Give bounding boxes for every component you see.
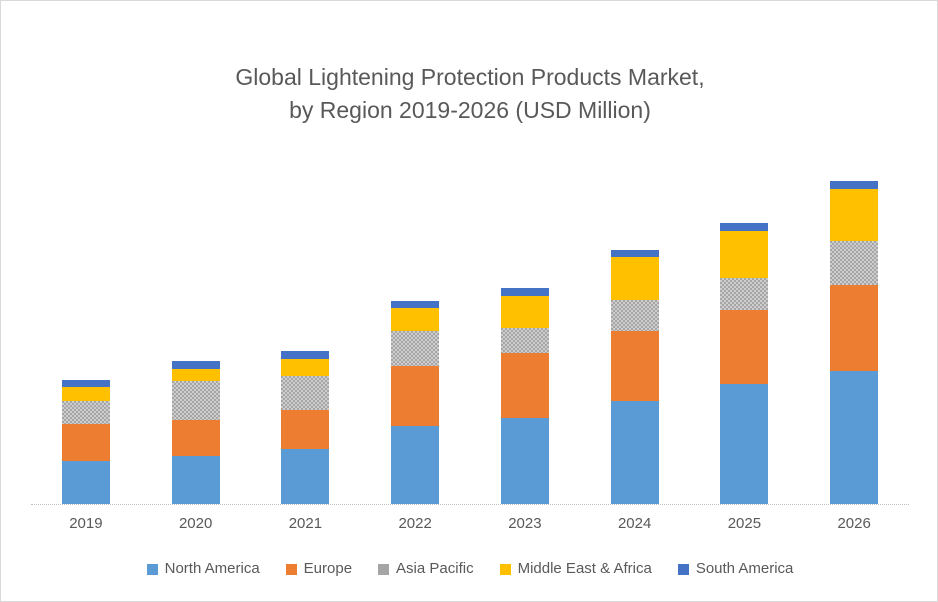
legend-swatch-icon-middle-east-africa	[500, 564, 511, 575]
legend-item-middle-east-africa[interactable]: Middle East & Africa	[500, 559, 652, 579]
bar-segment-europe-2019[interactable]	[62, 424, 110, 461]
chart-legend: North AmericaEuropeAsia PacificMiddle Ea…	[1, 559, 938, 579]
bar-segment-north-america-2025[interactable]	[720, 384, 768, 504]
bar-segment-europe-2021[interactable]	[281, 410, 329, 449]
bar-stack-2019[interactable]	[62, 380, 110, 504]
bar-segment-middle-east-africa-2025[interactable]	[720, 231, 768, 278]
chart-title-line-2: by Region 2019-2026 (USD Million)	[289, 97, 651, 123]
bar-segment-north-america-2023[interactable]	[501, 418, 549, 504]
chart-container: Global Lightening Protection Products Ma…	[0, 0, 938, 602]
bar-segment-north-america-2022[interactable]	[391, 426, 439, 504]
legend-swatch-icon-asia-pacific	[378, 564, 389, 575]
bar-segment-south-america-2020[interactable]	[172, 361, 220, 369]
legend-swatch-icon-north-america	[147, 564, 158, 575]
legend-label-asia-pacific: Asia Pacific	[396, 559, 474, 579]
bar-segment-south-america-2024[interactable]	[611, 250, 659, 257]
bar-segment-south-america-2019[interactable]	[62, 380, 110, 387]
chart-title-line-1: Global Lightening Protection Products Ma…	[235, 64, 704, 90]
bar-segment-north-america-2019[interactable]	[62, 461, 110, 504]
bar-segment-asia-pacific-2019[interactable]	[62, 401, 110, 424]
bar-segment-south-america-2025[interactable]	[720, 223, 768, 231]
bar-segment-middle-east-africa-2024[interactable]	[611, 257, 659, 300]
bar-segment-middle-east-africa-2021[interactable]	[281, 359, 329, 376]
bar-segment-asia-pacific-2026[interactable]	[830, 241, 878, 285]
bar-stack-2021[interactable]	[281, 351, 329, 504]
x-tick-label-2023: 2023	[470, 513, 580, 535]
legend-label-north-america: North America	[165, 559, 260, 579]
bar-segment-north-america-2026[interactable]	[830, 371, 878, 504]
plot-area	[31, 151, 909, 504]
bar-segment-north-america-2020[interactable]	[172, 456, 220, 504]
x-tick-label-2024: 2024	[580, 513, 690, 535]
bar-segment-middle-east-africa-2026[interactable]	[830, 189, 878, 241]
legend-swatch-icon-south-america	[678, 564, 689, 575]
bar-segment-europe-2020[interactable]	[172, 420, 220, 456]
bar-stack-2023[interactable]	[501, 288, 549, 504]
x-axis-labels: 20192020202120222023202420252026	[31, 513, 909, 539]
legend-item-south-america[interactable]: South America	[678, 559, 794, 579]
bar-segment-europe-2024[interactable]	[611, 331, 659, 401]
bar-segment-europe-2023[interactable]	[501, 353, 549, 418]
legend-label-europe: Europe	[304, 559, 352, 579]
bar-stack-2026[interactable]	[830, 181, 878, 504]
bar-segment-south-america-2022[interactable]	[391, 301, 439, 308]
bar-segment-south-america-2026[interactable]	[830, 181, 878, 189]
bar-segment-middle-east-africa-2019[interactable]	[62, 387, 110, 401]
chart-title: Global Lightening Protection Products Ma…	[1, 61, 938, 127]
x-tick-label-2020: 2020	[141, 513, 251, 535]
x-axis-line	[31, 504, 909, 505]
legend-item-asia-pacific[interactable]: Asia Pacific	[378, 559, 474, 579]
bar-stack-2024[interactable]	[611, 250, 659, 504]
legend-label-south-america: South America	[696, 559, 794, 579]
x-tick-label-2026: 2026	[799, 513, 909, 535]
bar-segment-south-america-2021[interactable]	[281, 351, 329, 359]
legend-swatch-icon-europe	[286, 564, 297, 575]
bar-segment-north-america-2024[interactable]	[611, 401, 659, 504]
x-tick-label-2022: 2022	[360, 513, 470, 535]
bar-segment-asia-pacific-2022[interactable]	[391, 331, 439, 366]
bar-segment-asia-pacific-2020[interactable]	[172, 381, 220, 419]
x-tick-label-2025: 2025	[690, 513, 800, 535]
bar-stack-2025[interactable]	[720, 223, 768, 504]
bar-stack-2022[interactable]	[391, 301, 439, 504]
legend-item-europe[interactable]: Europe	[286, 559, 352, 579]
bar-segment-south-america-2023[interactable]	[501, 288, 549, 296]
bar-segment-asia-pacific-2021[interactable]	[281, 376, 329, 410]
bar-segment-north-america-2021[interactable]	[281, 449, 329, 504]
x-tick-label-2021: 2021	[251, 513, 361, 535]
bar-segment-middle-east-africa-2023[interactable]	[501, 296, 549, 328]
bar-segment-asia-pacific-2025[interactable]	[720, 278, 768, 310]
bar-segment-europe-2025[interactable]	[720, 310, 768, 384]
bar-segment-asia-pacific-2024[interactable]	[611, 300, 659, 330]
bar-segment-middle-east-africa-2020[interactable]	[172, 369, 220, 381]
bar-stack-2020[interactable]	[172, 361, 220, 504]
bar-segment-europe-2026[interactable]	[830, 285, 878, 371]
x-tick-label-2019: 2019	[31, 513, 141, 535]
legend-label-middle-east-africa: Middle East & Africa	[518, 559, 652, 579]
legend-item-north-america[interactable]: North America	[147, 559, 260, 579]
bar-segment-middle-east-africa-2022[interactable]	[391, 308, 439, 331]
bar-segment-asia-pacific-2023[interactable]	[501, 328, 549, 353]
bar-segment-europe-2022[interactable]	[391, 366, 439, 426]
